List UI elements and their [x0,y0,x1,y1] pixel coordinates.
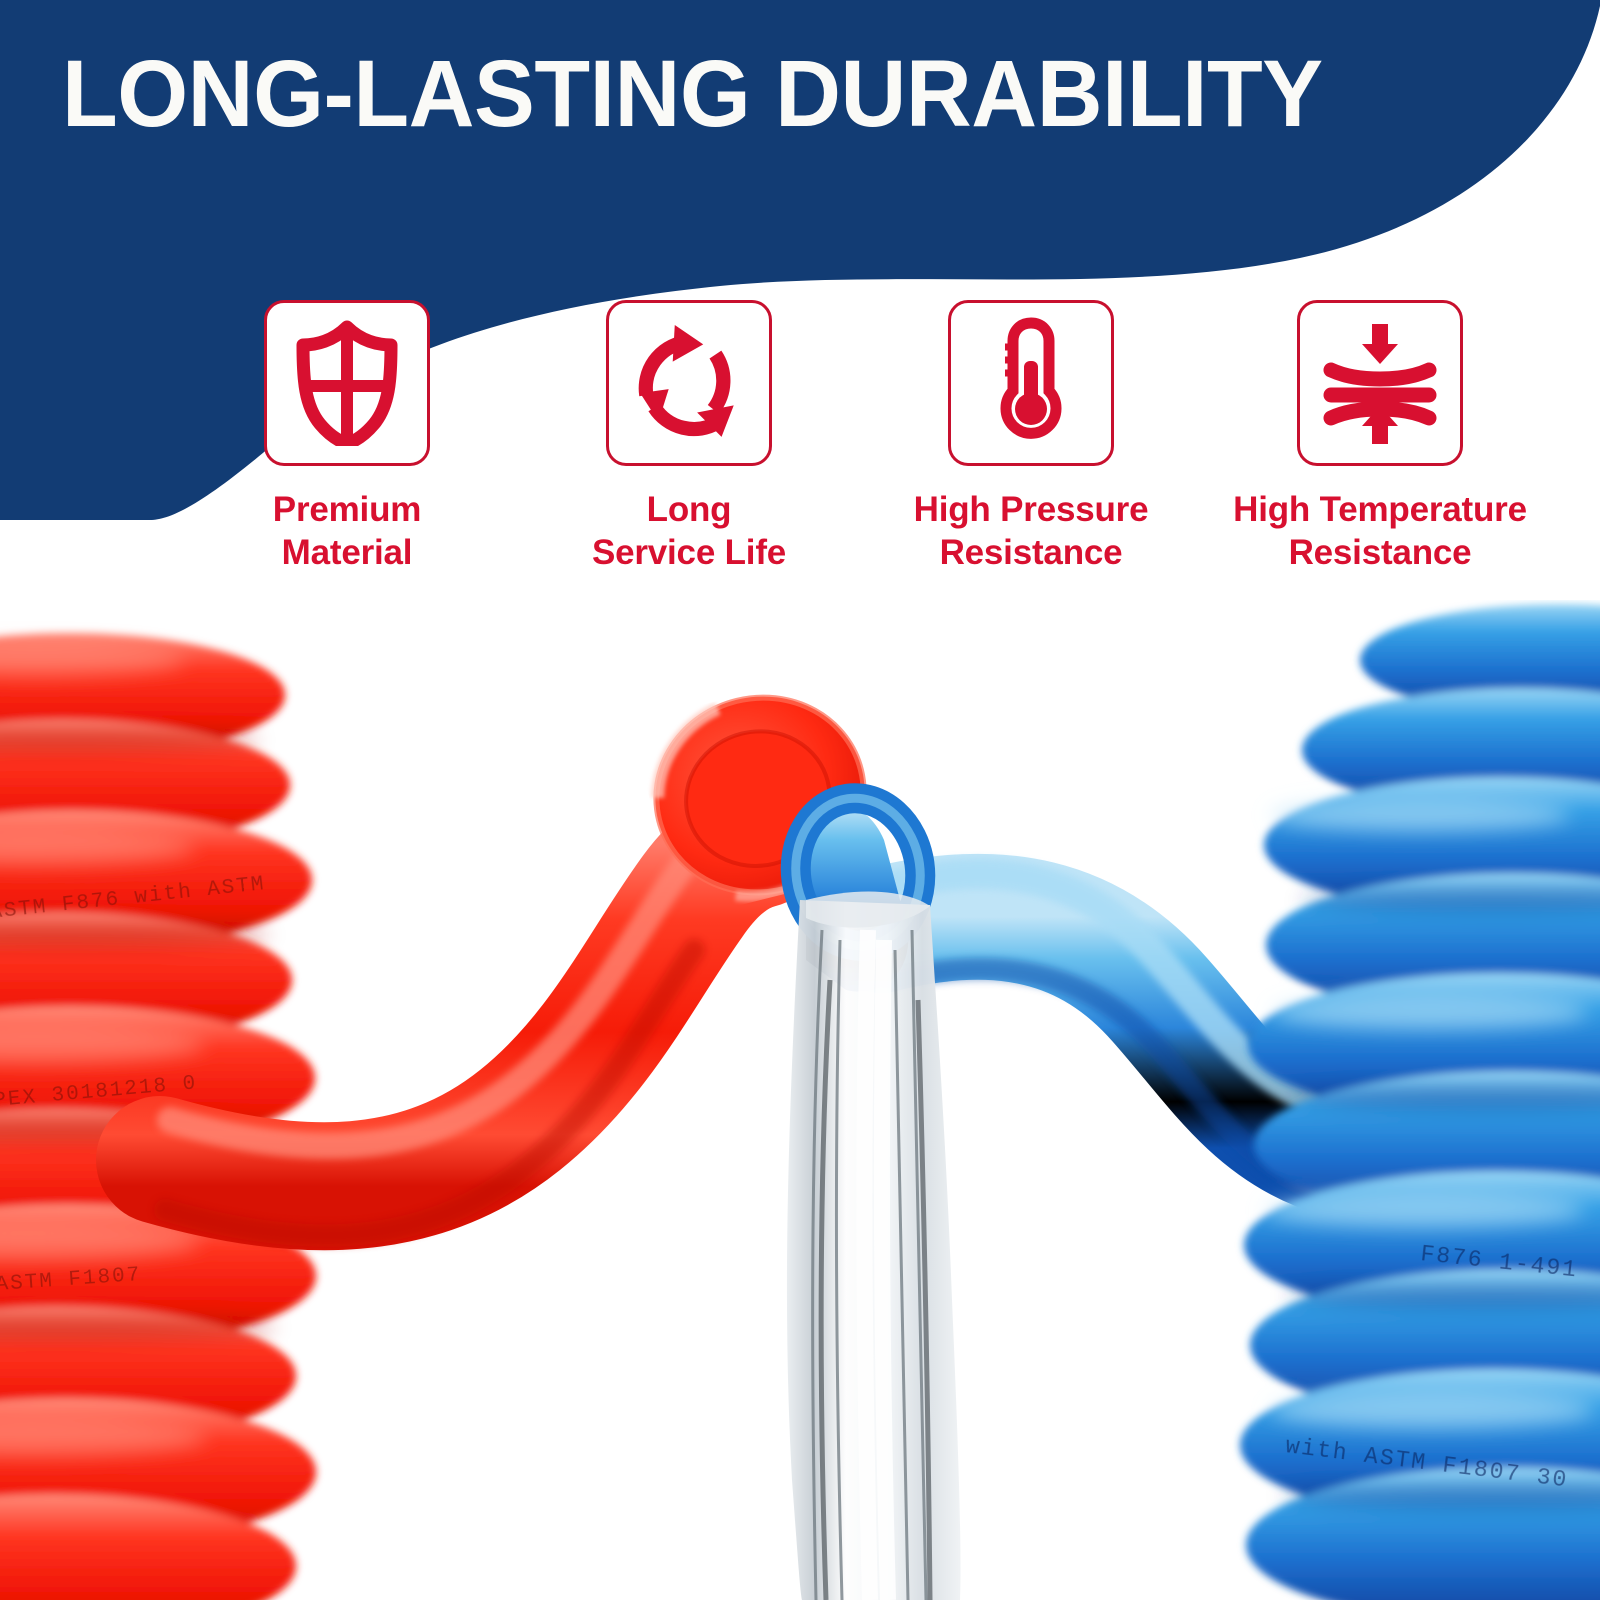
feature-icon-card [1297,300,1463,466]
page-title: LONG-LASTING DURABILITY [62,42,1272,146]
hose-scene-illustration: ASTM F876 with ASTM PEX 30181218 0 ASTM … [0,600,1600,1600]
thermometer-icon [983,317,1079,449]
feature-label: Long Service Life [549,488,829,574]
feature-icon-card [264,300,430,466]
shield-icon [286,320,408,446]
feature-label: High Temperature Resistance [1210,488,1550,574]
feature-icon-card [948,300,1114,466]
water-stream [787,891,961,1600]
feature-item-premium-material: Premium Material [217,300,477,574]
recycle-arrows-icon [628,322,750,444]
feature-item-long-service-life: Long Service Life [549,300,829,574]
feature-label: High Pressure Resistance [881,488,1181,574]
product-infographic: LONG-LASTING DURABILITY Premium Material [0,0,1600,1600]
product-photo: ASTM F876 with ASTM PEX 30181218 0 ASTM … [0,600,1600,1600]
feature-label: Premium Material [217,488,477,574]
feature-item-high-pressure-resistance: High Pressure Resistance [881,300,1181,574]
feature-icon-card [606,300,772,466]
feature-list: Premium Material Long Service Life [0,300,1600,610]
feature-item-high-temperature-resistance: High Temperature Resistance [1210,300,1550,574]
compression-arrows-icon [1317,320,1443,446]
